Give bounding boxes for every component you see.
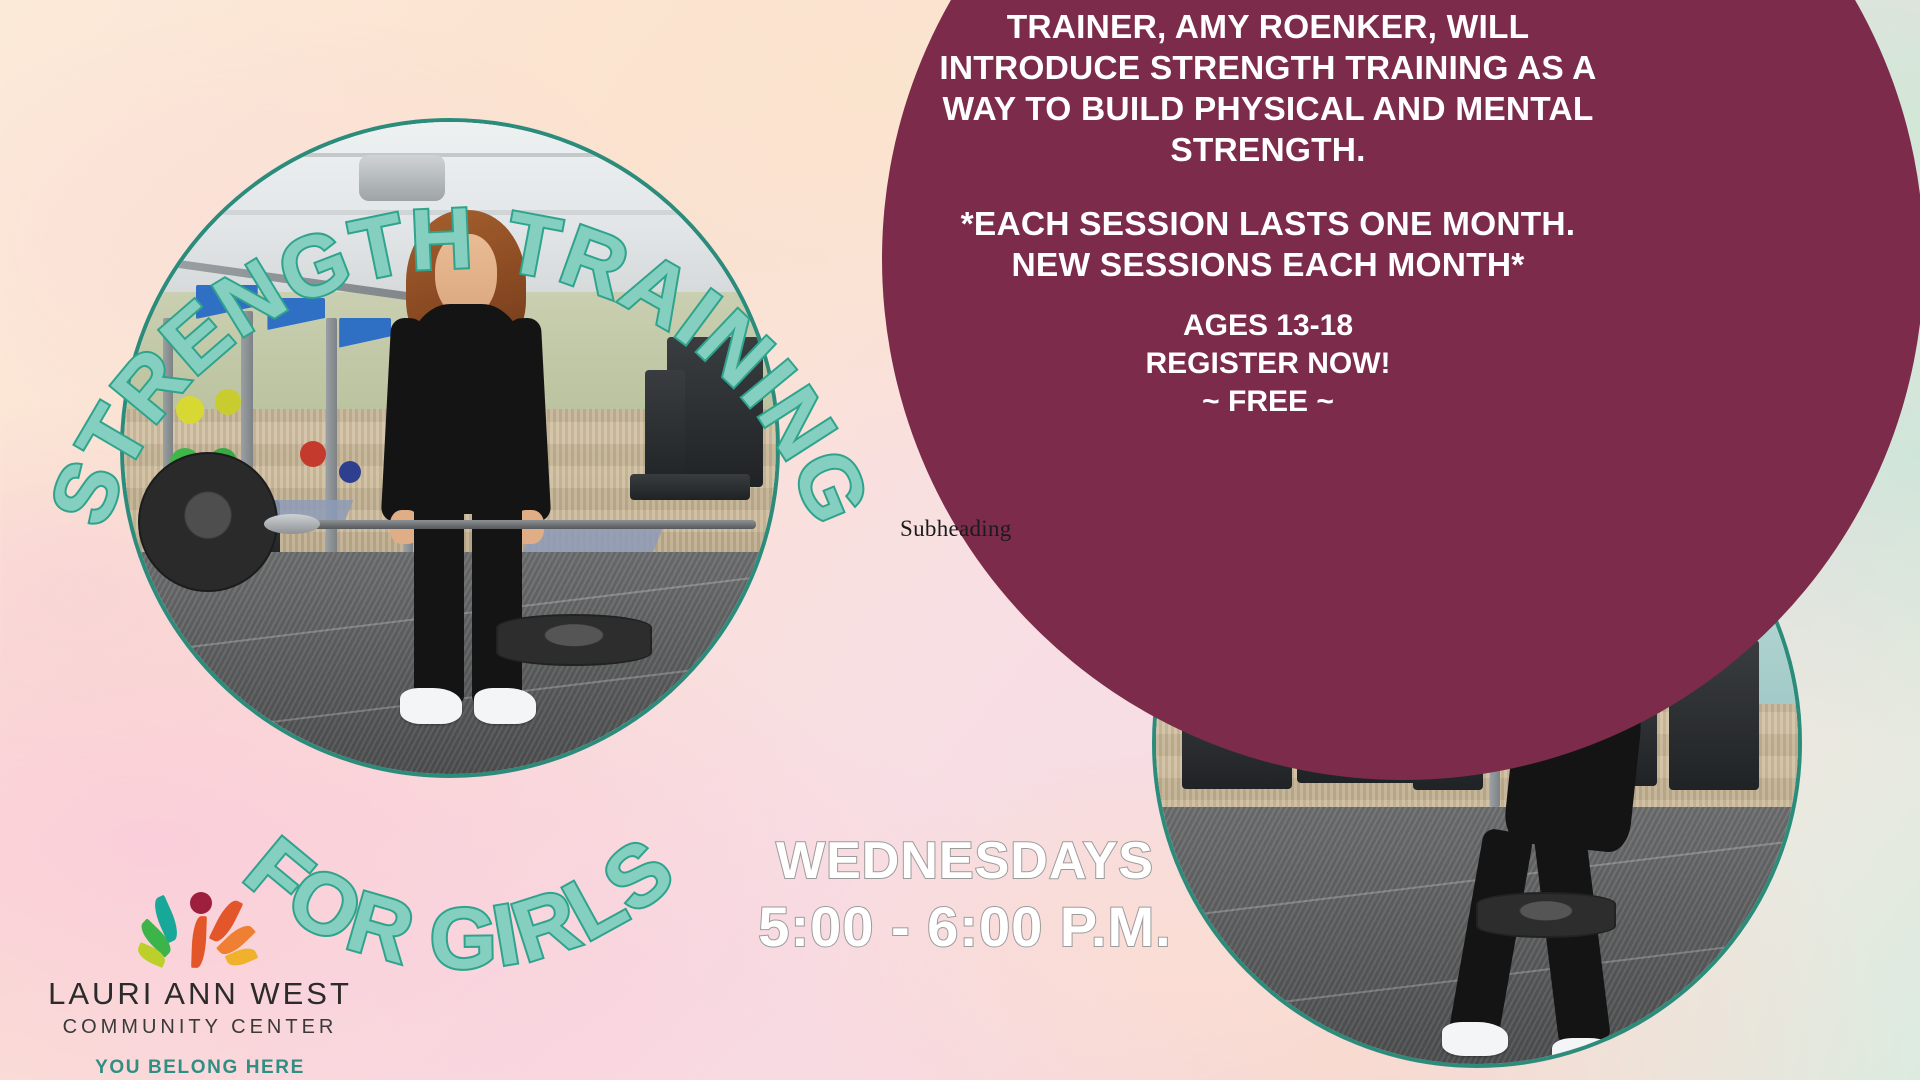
schedule-block: WEDNESDAYS 5:00 - 6:00 P.M. xyxy=(755,830,1175,962)
callout-spacer-1 xyxy=(918,171,1618,205)
schedule-time: 5:00 - 6:00 P.M. xyxy=(755,893,1175,961)
logo-burst-icon xyxy=(140,890,260,970)
callout-register: REGISTER NOW! xyxy=(918,345,1618,383)
callout-ages: AGES 13-18 xyxy=(918,307,1618,345)
callout-text-block: TRAINER, AMY ROENKER, WILL INTRODUCE STR… xyxy=(918,8,1618,421)
callout-paragraph-main: TRAINER, AMY ROENKER, WILL INTRODUCE STR… xyxy=(918,8,1618,171)
poster-canvas: STRENGTH TRAINING FOR GIRLS TRAINER, AMY… xyxy=(0,0,1920,1080)
callout-paragraph-sessions: *EACH SESSION LASTS ONE MONTH. NEW SESSI… xyxy=(918,205,1618,287)
subheading-text: Subheading xyxy=(900,516,1012,542)
schedule-day: WEDNESDAYS xyxy=(755,830,1175,893)
callout-spacer-2 xyxy=(918,287,1618,307)
logo-tagline: YOU BELONG HERE xyxy=(40,1057,360,1079)
logo-name: LAURI ANN WEST xyxy=(40,976,360,1012)
gym-scene-left xyxy=(124,122,776,774)
logo-subname: COMMUNITY CENTER xyxy=(40,1016,360,1039)
callout-price: ~ FREE ~ xyxy=(918,383,1618,421)
photo-deadlift xyxy=(120,118,780,778)
logo-block: LAURI ANN WEST COMMUNITY CENTER YOU BELO… xyxy=(40,890,360,1079)
